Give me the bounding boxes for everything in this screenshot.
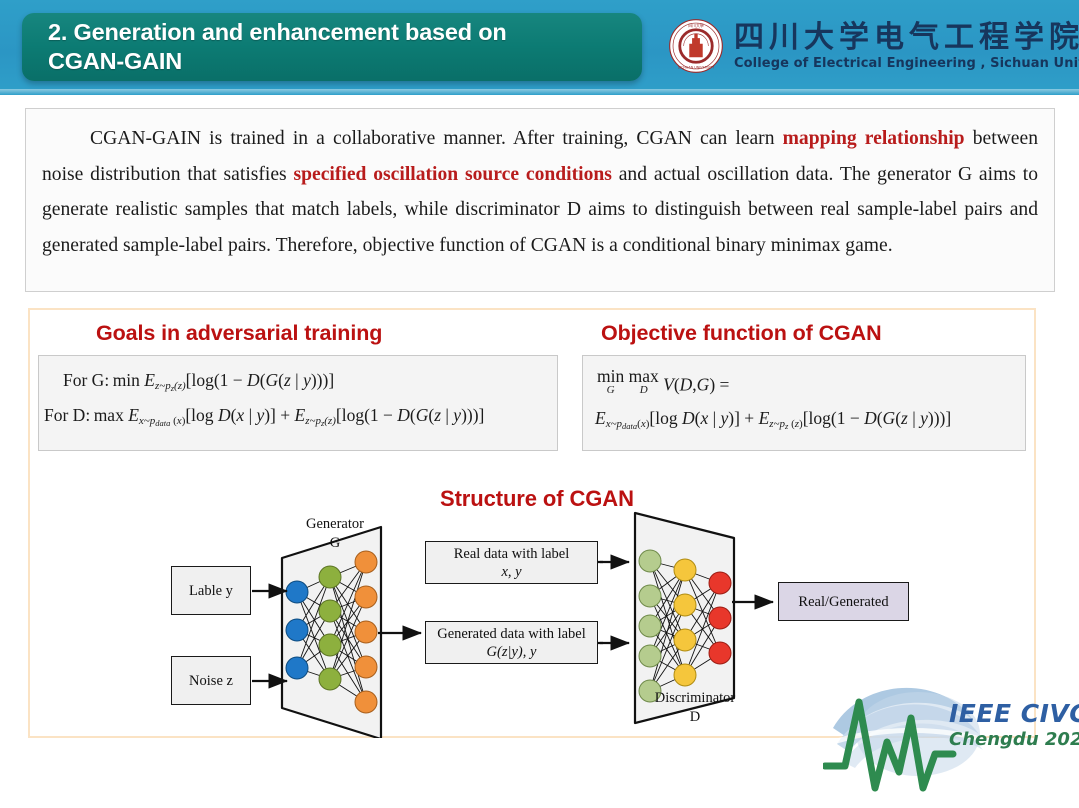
input-noise-box: Noise z	[171, 656, 251, 705]
paragraph-segment-1: mapping relationship	[783, 128, 965, 149]
generated-data-line-2: G(z|y), y	[487, 644, 537, 660]
header-band: 2. Generation and enhancement based on C…	[0, 0, 1079, 95]
conference-logo: IEEE CIVCEE Chengdu 2023	[823, 668, 1071, 803]
real-data-box: Real data with label x, y	[425, 541, 598, 584]
generator-label: Generator G	[290, 515, 380, 553]
discriminator-label: Discriminator D	[640, 689, 750, 727]
intro-paragraph-panel: CGAN-GAIN is trained in a collaborative …	[25, 108, 1055, 292]
generated-data-box: Generated data with label G(z|y), y	[425, 621, 598, 664]
real-data-line-2: x, y	[501, 564, 521, 580]
svg-text:SICHUAN UNIVERSITY: SICHUAN UNIVERSITY	[678, 65, 715, 69]
university-logo: 四川大學 SICHUAN UNIVERSITY 四川大学电气工程学院 Colle…	[668, 10, 1070, 82]
university-name-chinese: 四川大学电气工程学院	[734, 21, 1079, 55]
input-label-text: Lable y	[189, 582, 233, 600]
sichuan-university-seal-icon: 四川大學 SICHUAN UNIVERSITY	[668, 18, 724, 74]
civcee-text-block: IEEE CIVCEE Chengdu 2023	[949, 700, 1074, 751]
generated-data-line-1: Generated data with label	[437, 626, 586, 642]
slide-title-pill: 2. Generation and enhancement based on C…	[22, 13, 642, 81]
real-data-line-1: Real data with label	[454, 546, 570, 562]
output-box-text: Real/Generated	[798, 593, 888, 611]
svg-text:四川大學: 四川大學	[688, 23, 704, 28]
output-box: Real/Generated	[778, 582, 909, 621]
university-name-english: College of Electrical Engineering , Sich…	[734, 55, 1079, 72]
civcee-name: IEEE CIVCEE	[949, 700, 1074, 728]
paragraph-segment-3: specified oscillation source conditions	[294, 164, 612, 185]
input-label-box: Lable y	[171, 566, 251, 615]
university-name-block: 四川大学电气工程学院 College of Electrical Enginee…	[734, 21, 1079, 72]
intro-paragraph-text: CGAN-GAIN is trained in a collaborative …	[42, 121, 1038, 263]
page-title: 2. Generation and enhancement based on C…	[22, 18, 507, 76]
paragraph-segment-0: CGAN-GAIN is trained in a collaborative …	[90, 128, 783, 149]
civcee-location-year: Chengdu 2023	[949, 729, 1074, 751]
input-noise-text: Noise z	[189, 672, 233, 690]
